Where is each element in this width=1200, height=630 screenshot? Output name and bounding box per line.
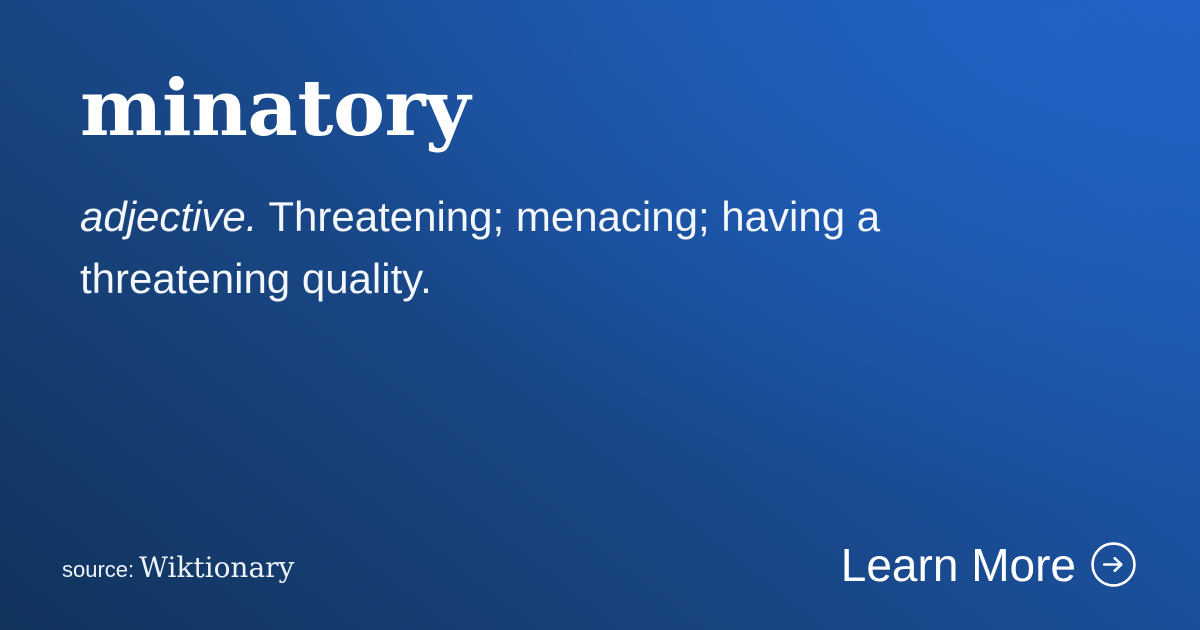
word-heading-container: minatory [80,68,1120,151]
definition-text: adjective. Threatening; menacing; having… [80,186,985,310]
part-of-speech-label: adjective. [80,193,257,240]
source-name: Wiktionary [139,551,294,584]
learn-more-label: Learn More [841,542,1076,588]
page-title: minatory [80,68,1120,151]
definition-spacer [257,193,268,240]
learn-more-button[interactable]: Learn More [841,541,1137,588]
source-label: source: [62,557,134,582]
word-of-the-day-card: minatory adjective. Threatening; menacin… [0,0,1200,630]
definition-container: adjective. Threatening; menacing; having… [80,186,985,310]
source-attribution: source:Wiktionary [62,554,294,582]
arrow-right-circle-icon [1090,541,1137,588]
